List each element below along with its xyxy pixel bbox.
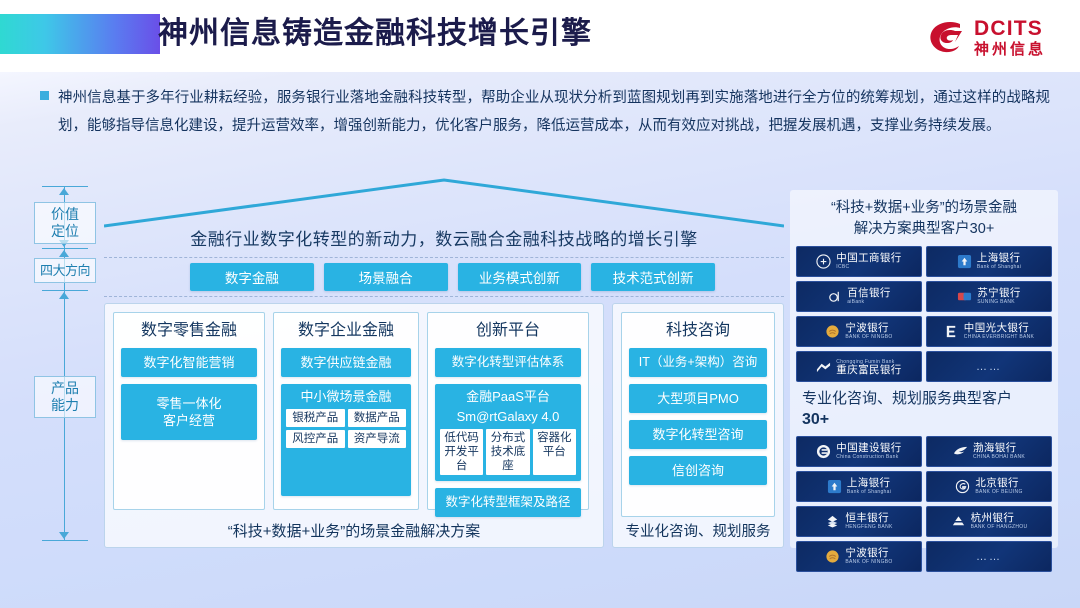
logo-text: 苏宁银行 SUNING BANK [977,288,1021,306]
logo-text: 百信银行 aiBank [847,288,891,306]
bohai-bank-icon [953,444,968,459]
bank-of-ningbo-icon [825,324,840,339]
logo-text: 中国建设银行 China Construction Bank [836,443,901,461]
bank-of-shanghai-icon [827,479,842,494]
logo-cn: 重庆富民银行 [836,365,901,376]
product-box-retail-integrated-customer-ops[interactable]: 零售一体化 客户经营 [121,384,257,440]
group-sub-items: 低代码开发平台 分布式技术底座 容器化平台 [440,429,576,475]
consulting-caption: 专业化咨询、规划服务 [613,520,783,541]
product-box-transformation-assessment[interactable]: 数字化转型评估体系 [435,348,581,377]
arrow-up-icon-1 [59,188,69,195]
heading-line1: 专业化咨询、规划服务典型客户 [802,388,1048,409]
sub-item-lowcode-platform[interactable]: 低代码开发平台 [440,429,483,475]
solution-panel: 数字零售金融 数字化智能营销 零售一体化 客户经营 数字企业金融 数字供应链金融… [104,303,604,548]
product-capability-section: 数字零售金融 数字化智能营销 零售一体化 客户经营 数字企业金融 数字供应链金融… [104,303,784,548]
sub-item-distributed-tech-base[interactable]: 分布式技术底座 [486,429,529,475]
consulting-box-digital-transformation[interactable]: 数字化转型咨询 [629,420,767,449]
consulting-box-it-advisory[interactable]: IT（业务+架构）咨询 [629,348,767,377]
consulting-box-large-project-pmo[interactable]: 大型项目PMO [629,384,767,413]
logo-cn: 百信银行 [847,288,891,299]
product-box-transformation-framework[interactable]: 数字化转型框架及路径 [435,488,581,517]
aibank-icon [827,289,842,304]
solution-caption: “科技+数据+业务”的场景金融解决方案 [105,520,603,541]
intro-text: 神州信息基于多年行业耕耘经验，服务银行业落地金融科技转型，帮助企业从现状分析到蓝… [58,84,1050,140]
customer-logo-more-2[interactable]: …… [926,541,1052,572]
customer-logo-bank-of-hangzhou[interactable]: 杭州银行 BANK OF HANGZHOU [926,506,1052,537]
logo-cn: 宁波银行 [845,323,892,334]
axis-cap-mid1 [42,248,88,249]
direction-chip-scenario-fusion[interactable]: 场景融合 [324,263,448,291]
bank-of-hangzhou-icon [951,514,966,529]
arrow-up-icon-3 [59,292,69,299]
brand-name-en: DCITS [974,18,1046,39]
customer-logo-bank-of-ningbo-2[interactable]: 宁波银行 BANK OF NINGBO [796,541,922,572]
axis-item-line1: 价值 [35,206,95,223]
logo-text: 北京银行 BANK OF BEIJING [975,478,1022,496]
axis-labels: 价值 定位 四大方向 产品 能力 [34,186,96,542]
customer-logo-icbc[interactable]: 中国工商银行 ICBC [796,246,922,277]
customer-logo-grid-1: 中国工商银行 ICBC 上海银行 Bank of Shanghai [790,246,1058,382]
logo-en: China Construction Bank [836,455,901,460]
product-column-enterprise: 数字企业金融 数字供应链金融 中小微场景金融 银税产品 数据产品 风控产品 资产… [273,312,419,510]
axis-item-line2: 定位 [35,223,95,240]
logo-en: BANK OF BEIJING [975,490,1022,495]
axis-item-value-positioning: 价值 定位 [34,202,96,244]
direction-chip-row: 数字金融 场景融合 业务模式创新 技术范式创新 [190,263,715,291]
axis-cap-mid2 [42,290,88,291]
logo-cn: 中国光大银行 [964,323,1034,334]
group-sub-items: 银税产品 数据产品 风控产品 资产导流 [286,409,406,448]
brand-logo-text: DCITS 神州信息 [974,18,1046,57]
product-column-retail: 数字零售金融 数字化智能营销 零售一体化 客户经营 [113,312,265,510]
bank-of-beijing-icon [955,479,970,494]
customer-logo-fumin-bank[interactable]: Chongqing Fumin Bank 重庆富民银行 [796,351,922,382]
column-title: 科技咨询 [629,321,767,341]
direction-chip-digital-finance[interactable]: 数字金融 [190,263,314,291]
logo-en: BANK OF HANGZHOU [971,525,1028,530]
axis-item-line1: 四大方向 [35,262,95,279]
product-column-tech-consulting: 科技咨询 IT（业务+架构）咨询 大型项目PMO 数字化转型咨询 信创咨询 [621,312,775,517]
customer-logo-grid-2: 中国建设银行 China Construction Bank 渤海银行 CHIN… [790,436,1058,572]
box-line1: 零售一体化 [124,395,254,412]
logo-text: 中国工商银行 ICBC [836,253,901,271]
logo-en: aiBank [847,300,891,305]
bank-of-shanghai-icon [957,254,972,269]
slide-header: 神州信息铸造金融科技增长引擎 DCITS 神州信息 [0,0,1080,72]
logo-en: SUNING BANK [977,300,1021,305]
logo-text: 上海银行 Bank of Shanghai [847,478,891,496]
bank-of-ningbo-icon [825,549,840,564]
divider-top [104,257,784,258]
logo-cn: 杭州银行 [971,513,1028,524]
slide-root: 神州信息铸造金融科技增长引擎 DCITS 神州信息 神州信息基于多年行业耕耘经验… [0,0,1080,608]
customer-logo-bank-of-shanghai[interactable]: 上海银行 Bank of Shanghai [926,246,1052,277]
logo-text: 渤海银行 CHINA BOHAI BANK [973,443,1025,461]
customer-logo-aibank[interactable]: 百信银行 aiBank [796,281,922,312]
customer-logo-more-1[interactable]: …… [926,351,1052,382]
axis-cap-bottom [42,540,88,541]
customer-logo-bank-of-ningbo[interactable]: 宁波银行 BANK OF NINGBO [796,316,922,347]
logo-cn: 上海银行 [977,253,1021,264]
consulting-panel: 科技咨询 IT（业务+架构）咨询 大型项目PMO 数字化转型咨询 信创咨询 专业… [612,303,784,548]
direction-chip-tech-paradigm-innovation[interactable]: 技术范式创新 [591,263,715,291]
customer-group2-heading: 专业化咨询、规划服务典型客户 30+ [790,382,1058,436]
logo-text: 恒丰银行 HENGFENG BANK [845,513,892,531]
logo-cn: 中国工商银行 [836,253,901,264]
intro-paragraph: 神州信息基于多年行业耕耘经验，服务银行业落地金融科技转型，帮助企业从现状分析到蓝… [40,84,1050,140]
customer-logo-hengfeng-bank[interactable]: 恒丰银行 HENGFENG BANK [796,506,922,537]
product-column-innovation-platform: 创新平台 数字化转型评估体系 金融PaaS平台 Sm@rtGalaxy 4.0 … [427,312,589,510]
sub-item-risk-control-product[interactable]: 风控产品 [286,430,345,448]
logo-cn: 苏宁银行 [977,288,1021,299]
product-group-financial-paas: 金融PaaS平台 Sm@rtGalaxy 4.0 低代码开发平台 分布式技术底座… [435,384,581,481]
customer-panel: “科技+数据+业务”的场景金融 解决方案典型客户30+ 中国工商银行 ICBC [790,190,1058,548]
logo-en: HENGFENG BANK [845,525,892,530]
customer-logo-bank-of-shanghai-2[interactable]: 上海银行 Bank of Shanghai [796,471,922,502]
logo-text: 中国光大银行 CHINA EVERBRIGHT BANK [964,323,1034,341]
bullet-icon [40,91,49,100]
header-accent-bar [0,14,160,54]
hengfeng-bank-icon [825,514,840,529]
customer-logo-ccb[interactable]: 中国建设银行 China Construction Bank [796,436,922,467]
column-title: 数字企业金融 [281,321,411,341]
product-box-digital-supply-chain-finance[interactable]: 数字供应链金融 [281,348,411,377]
arrow-down-icon-3 [59,532,69,539]
logo-text: Chongqing Fumin Bank 重庆富民银行 [836,358,901,376]
brand-name-cn: 神州信息 [974,42,1046,57]
product-group-sme-scenario-finance: 中小微场景金融 银税产品 数据产品 风控产品 资产导流 [281,384,411,496]
dcits-swoosh-icon [927,17,967,57]
direction-chip-business-model-innovation[interactable]: 业务模式创新 [458,263,582,291]
heading-line2: 30+ [802,409,1048,430]
logo-text: 宁波银行 BANK OF NINGBO [845,548,892,566]
group-title: 中小微场景金融 [286,389,406,405]
axis-item-product-capability: 产品 能力 [34,376,96,418]
column-title: 数字零售金融 [121,321,257,341]
customer-group1-heading: “科技+数据+业务”的场景金融 解决方案典型客户30+ [790,190,1058,246]
sub-item-container-platform[interactable]: 容器化平台 [533,429,576,475]
ccb-icon [816,444,831,459]
logo-en: ICBC [836,265,901,270]
logo-cn: 中国建设银行 [836,443,901,454]
axis-cap-top [42,186,88,187]
axis-item-line1: 产品 [35,380,95,397]
icbc-icon [816,254,831,269]
box-line2: 客户经营 [124,412,254,429]
tagline: 金融行业数字化转型的新动力，数云融合金融科技战略的增长引擎 [104,218,784,256]
axis-item-four-directions: 四大方向 [34,258,96,283]
sub-item-asset-sourcing[interactable]: 资产导流 [348,430,407,448]
logo-en: CHINA BOHAI BANK [973,455,1025,460]
group-title-line1: 金融PaaS平台 [440,389,576,405]
logo-en: Bank of Shanghai [847,490,891,495]
column-title: 创新平台 [435,321,581,341]
arrow-up-icon-2 [59,250,69,257]
sub-item-data-product[interactable]: 数据产品 [348,409,407,427]
axis-item-line2: 能力 [35,397,95,414]
consulting-box-xinchuang[interactable]: 信创咨询 [629,456,767,485]
logo-cn: 上海银行 [847,478,891,489]
logo-text: 杭州银行 BANK OF HANGZHOU [971,513,1028,531]
logo-en: BANK OF NINGBO [845,560,892,565]
product-box-smart-marketing[interactable]: 数字化智能营销 [121,348,257,377]
heading-line1: “科技+数据+业务”的场景金融 [800,198,1048,219]
logo-cn: 恒丰银行 [845,513,892,524]
suning-bank-icon [957,289,972,304]
logo-en: CHINA EVERBRIGHT BANK [964,335,1034,340]
sub-item-tax-bank-product[interactable]: 银税产品 [286,409,345,427]
fumin-bank-icon [816,359,831,374]
logo-cn: 宁波银行 [845,548,892,559]
logo-en: BANK OF NINGBO [845,335,892,340]
logo-cn: 北京银行 [975,478,1022,489]
customer-logo-everbright-bank[interactable]: 中国光大银行 CHINA EVERBRIGHT BANK [926,316,1052,347]
logo-text: 宁波银行 BANK OF NINGBO [845,323,892,341]
brand-logo: DCITS 神州信息 [927,14,1046,60]
customer-logo-suning-bank[interactable]: 苏宁银行 SUNING BANK [926,281,1052,312]
divider-bottom [104,296,784,297]
customer-logo-bohai-bank[interactable]: 渤海银行 CHINA BOHAI BANK [926,436,1052,467]
logo-cn: 渤海银行 [973,443,1025,454]
logo-text: 上海银行 Bank of Shanghai [977,253,1021,271]
everbright-bank-icon [944,324,959,339]
customer-logo-bank-of-beijing[interactable]: 北京银行 BANK OF BEIJING [926,471,1052,502]
logo-en: Bank of Shanghai [977,265,1021,270]
page-title: 神州信息铸造金融科技增长引擎 [158,10,592,58]
heading-line2: 解决方案典型客户30+ [800,219,1048,240]
group-title-line2: Sm@rtGalaxy 4.0 [440,409,576,425]
